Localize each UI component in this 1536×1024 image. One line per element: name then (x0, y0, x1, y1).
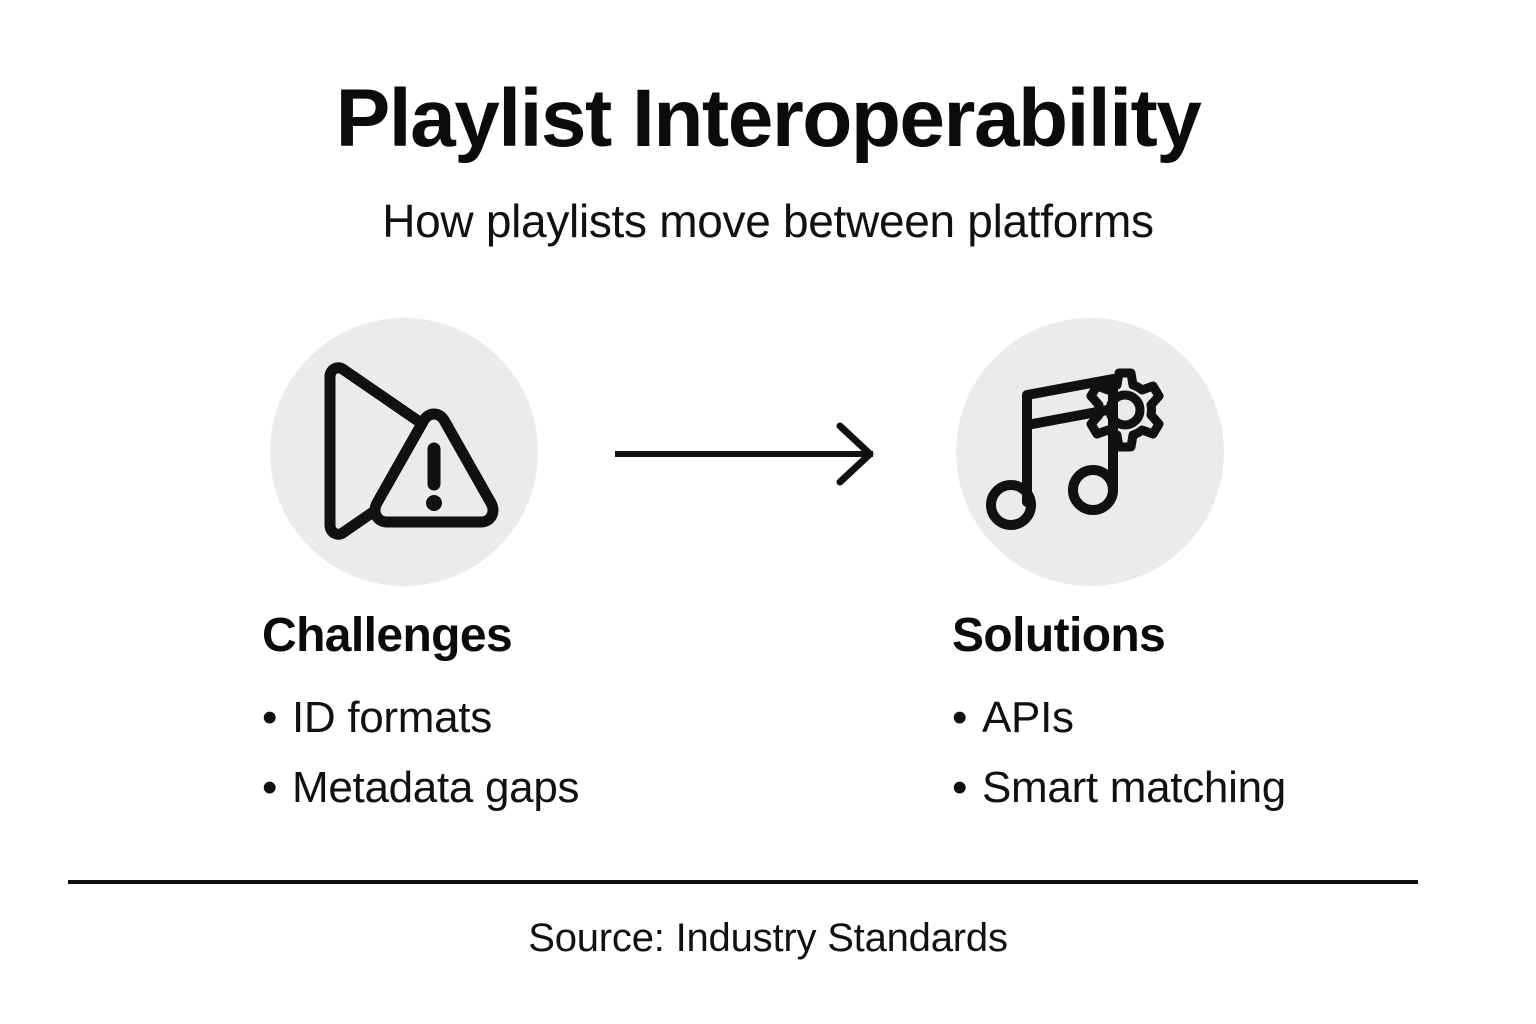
bullet-icon: • (262, 766, 292, 810)
footer-divider (68, 880, 1418, 884)
solutions-list: • APIs • Smart matching (952, 696, 1286, 810)
bullet-icon: • (262, 696, 292, 740)
solutions-heading: Solutions (952, 612, 1286, 660)
play-warning-icon (304, 357, 504, 547)
music-note-gear-icon (985, 357, 1195, 547)
list-item: • ID formats (262, 696, 579, 740)
list-item-label: ID formats (292, 696, 492, 740)
infographic-slide: Playlist Interoperability How playlists … (0, 0, 1536, 1024)
bullet-icon: • (952, 696, 982, 740)
list-item: • Smart matching (952, 766, 1286, 810)
list-item-label: Metadata gaps (292, 766, 579, 810)
challenges-icon-badge (270, 318, 538, 586)
arrow-right-icon (612, 418, 884, 490)
page-subtitle: How playlists move between platforms (0, 198, 1536, 244)
challenges-list: • ID formats • Metadata gaps (262, 696, 579, 810)
list-item-label: APIs (982, 696, 1074, 740)
solutions-column: Solutions • APIs • Smart matching (952, 612, 1286, 810)
list-item: • Metadata gaps (262, 766, 579, 810)
page-title: Playlist Interoperability (0, 78, 1536, 160)
challenges-heading: Challenges (262, 612, 579, 660)
bullet-icon: • (952, 766, 982, 810)
list-item-label: Smart matching (982, 766, 1286, 810)
challenges-column: Challenges • ID formats • Metadata gaps (262, 612, 579, 810)
source-note: Source: Industry Standards (0, 918, 1536, 958)
list-item: • APIs (952, 696, 1286, 740)
solutions-icon-badge (956, 318, 1224, 586)
